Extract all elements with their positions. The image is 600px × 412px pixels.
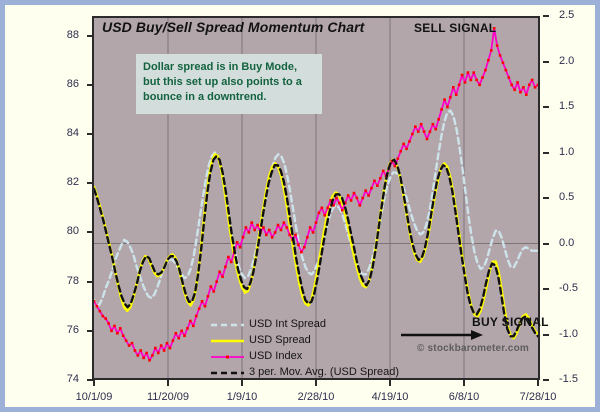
- series-marker: [499, 54, 502, 57]
- series-marker: [434, 128, 437, 131]
- series-marker: [341, 209, 344, 212]
- y-right-tick: [543, 334, 549, 336]
- series-marker: [350, 199, 353, 202]
- y-left-tick-label: 84: [33, 127, 79, 139]
- annotation-text: Dollar spread is in Buy Mode, but this s…: [143, 60, 315, 106]
- series-marker: [312, 231, 315, 234]
- series-marker: [487, 59, 490, 62]
- y-left-tick-label: 86: [33, 78, 79, 90]
- series-marker: [154, 347, 157, 350]
- series-marker: [402, 143, 405, 146]
- series-marker: [113, 325, 116, 328]
- y-right-tick-label: 2.5: [559, 9, 574, 21]
- series-marker: [253, 229, 256, 232]
- series-marker: [224, 266, 227, 269]
- y-right-tick-label: 0.0: [559, 237, 574, 249]
- series-marker: [274, 231, 277, 234]
- series-marker: [265, 234, 268, 237]
- series-marker: [484, 69, 487, 72]
- series-marker: [174, 332, 177, 335]
- series-marker: [414, 125, 417, 128]
- series-marker: [528, 84, 531, 87]
- y-right-tick-label: 1.5: [559, 100, 574, 112]
- series-marker: [96, 305, 99, 308]
- series-marker: [461, 74, 464, 77]
- y-right-tick: [543, 106, 549, 108]
- series-marker: [256, 224, 259, 227]
- series-marker: [195, 315, 198, 318]
- series-marker: [303, 246, 306, 249]
- y-right-tick: [543, 15, 549, 17]
- legend-swatch: [210, 350, 245, 362]
- series-marker: [297, 243, 300, 246]
- buy-signal-arrow-icon: [401, 329, 483, 341]
- series-marker: [437, 118, 440, 121]
- series-marker: [411, 133, 414, 136]
- y-right-tick-label: 2.0: [559, 55, 574, 67]
- series-marker: [139, 349, 142, 352]
- series-marker: [417, 130, 420, 133]
- y-axis-left: 7476788082848688: [5, 5, 92, 407]
- series-marker: [496, 44, 499, 47]
- y-left-tick-label: 82: [33, 176, 79, 188]
- series-marker: [347, 194, 350, 197]
- series-marker: [128, 344, 131, 347]
- series-marker: [134, 349, 137, 352]
- series-marker: [172, 339, 175, 342]
- x-tick: [463, 380, 465, 386]
- legend-label: 3 per. Mov. Avg. (USD Spread): [249, 366, 399, 378]
- series-marker: [475, 79, 478, 82]
- series-marker: [426, 138, 429, 141]
- series-marker: [271, 236, 274, 239]
- y-left-tick-label: 78: [33, 275, 79, 287]
- series-marker: [104, 317, 107, 320]
- series-marker: [359, 204, 362, 207]
- sell-signal-label: SELL SIGNAL: [414, 21, 496, 35]
- series-marker: [326, 207, 329, 210]
- series-marker: [519, 91, 522, 94]
- series-marker: [239, 246, 242, 249]
- y-right-tick-label: 0.5: [559, 191, 574, 203]
- series-marker: [300, 251, 303, 254]
- y-right-tick-label: -1.0: [559, 328, 578, 340]
- series-marker: [283, 221, 286, 224]
- y-right-tick: [543, 243, 549, 245]
- legend-item[interactable]: USD Spread: [210, 333, 399, 347]
- series-marker: [230, 261, 233, 264]
- series-marker: [215, 280, 218, 283]
- x-tick-label: 1/9/10: [227, 391, 258, 403]
- series-marker: [166, 342, 169, 345]
- legend-item[interactable]: USD Index: [210, 349, 399, 363]
- legend-swatch: [210, 318, 245, 330]
- series-marker: [204, 305, 207, 308]
- series-marker: [242, 236, 245, 239]
- series-marker: [294, 234, 297, 237]
- x-tick: [537, 380, 539, 386]
- series-marker: [356, 197, 359, 200]
- series-marker: [151, 354, 154, 357]
- chart-frame: 7476788082848688 -1.5-1.0-0.50.00.51.01.…: [0, 0, 600, 412]
- series-marker: [145, 352, 148, 355]
- series-marker: [163, 349, 166, 352]
- series-marker: [513, 88, 516, 91]
- series-marker: [452, 86, 455, 89]
- series-marker: [288, 234, 291, 237]
- series-marker: [186, 327, 189, 330]
- y-right-tick-label: 1.0: [559, 146, 574, 158]
- series-marker: [423, 130, 426, 133]
- y-right-tick: [543, 152, 549, 154]
- series-marker: [446, 106, 449, 109]
- series-marker: [262, 226, 265, 229]
- y-right-tick: [543, 288, 549, 290]
- legend-item[interactable]: USD Int Spread: [210, 317, 399, 331]
- series-marker: [367, 194, 370, 197]
- series-marker: [227, 256, 230, 259]
- series-marker: [245, 226, 248, 229]
- series-marker: [99, 310, 102, 313]
- series-marker: [107, 322, 110, 325]
- series-marker: [192, 325, 195, 328]
- series-marker: [467, 71, 470, 74]
- legend-swatch: [210, 366, 245, 378]
- series-marker: [122, 334, 125, 337]
- series-marker: [481, 76, 484, 79]
- series-marker: [458, 84, 461, 87]
- series-marker: [432, 123, 435, 126]
- series-marker: [169, 347, 172, 350]
- series-marker: [353, 192, 356, 195]
- series-marker: [248, 231, 251, 234]
- x-tick-label: 4/19/10: [372, 391, 409, 403]
- y-left-tick-label: 76: [33, 324, 79, 336]
- series-marker: [280, 229, 283, 232]
- series-marker: [364, 189, 367, 192]
- series-marker: [189, 320, 192, 323]
- legend-item[interactable]: 3 per. Mov. Avg. (USD Spread): [210, 365, 399, 379]
- y-right-tick-label: -0.5: [559, 282, 578, 294]
- series-marker: [250, 221, 253, 224]
- series-marker: [116, 332, 119, 335]
- series-marker: [376, 184, 379, 187]
- series-marker: [440, 108, 443, 111]
- series-marker: [125, 339, 128, 342]
- series-marker: [321, 207, 324, 210]
- series-marker: [502, 61, 505, 64]
- series-marker: [470, 79, 473, 82]
- series-marker: [537, 84, 538, 87]
- legend-label: USD Index: [249, 350, 302, 362]
- series-marker: [399, 150, 402, 153]
- x-tick-label: 7/28/10: [520, 391, 557, 403]
- x-tick-label: 10/1/09: [76, 391, 113, 403]
- series-marker: [160, 344, 163, 347]
- series-marker: [137, 354, 140, 357]
- series-marker: [268, 229, 271, 232]
- series-marker: [405, 148, 408, 151]
- series-marker: [318, 211, 321, 214]
- series-marker: [455, 93, 458, 96]
- series-marker: [510, 84, 513, 87]
- y-right-tick: [543, 61, 549, 63]
- series-marker: [373, 179, 376, 182]
- series-marker: [142, 357, 145, 360]
- series-marker: [315, 221, 318, 224]
- series-marker: [131, 342, 134, 345]
- series-marker: [309, 226, 312, 229]
- series-marker: [285, 226, 288, 229]
- series-marker: [429, 130, 432, 133]
- series-marker: [94, 300, 95, 303]
- y-left-tick-label: 80: [33, 225, 79, 237]
- annotation-box: Dollar spread is in Buy Mode, but this s…: [136, 54, 322, 114]
- series-marker: [218, 270, 221, 273]
- series-marker: [449, 96, 452, 99]
- x-tick-label: 2/28/10: [298, 391, 335, 403]
- series-marker: [525, 93, 528, 96]
- series-marker: [183, 334, 186, 337]
- x-tick: [93, 380, 95, 386]
- series-marker: [207, 295, 210, 298]
- series-marker: [472, 71, 475, 74]
- series-marker: [396, 157, 399, 160]
- series-marker: [157, 352, 160, 355]
- series-marker: [361, 197, 364, 200]
- series-marker: [443, 98, 446, 101]
- series-marker: [101, 315, 104, 318]
- series-marker: [370, 187, 373, 190]
- series-marker: [531, 79, 534, 82]
- x-tick-label: 6/8/10: [449, 391, 480, 403]
- series-marker: [338, 202, 341, 205]
- legend-swatch: [210, 334, 245, 346]
- chart-canvas: 7476788082848688 -1.5-1.0-0.50.00.51.01.…: [5, 5, 595, 407]
- x-tick-label: 11/20/09: [147, 391, 189, 403]
- series-marker: [177, 337, 180, 340]
- y-left-tick-label: 88: [33, 29, 79, 41]
- series-marker: [505, 69, 508, 72]
- series-marker: [382, 170, 385, 173]
- series-marker: [198, 307, 201, 310]
- series-marker: [490, 49, 493, 52]
- series-marker: [408, 140, 411, 143]
- legend-label: USD Int Spread: [249, 318, 326, 330]
- series-marker: [236, 241, 239, 244]
- series-marker: [323, 214, 326, 217]
- series-marker: [210, 285, 213, 288]
- series-marker: [110, 330, 113, 333]
- y-right-tick: [543, 197, 549, 199]
- page-title: USD Buy/Sell Spread Momentum Chart: [102, 19, 364, 35]
- series-marker: [379, 177, 382, 180]
- legend-label: USD Spread: [249, 334, 311, 346]
- series-marker: [212, 290, 215, 293]
- legend: USD Int SpreadUSD SpreadUSD Index3 per. …: [210, 317, 399, 381]
- series-marker: [507, 76, 510, 79]
- series-marker: [478, 84, 481, 87]
- series-marker: [148, 359, 151, 362]
- series-marker: [180, 330, 183, 333]
- x-tick: [167, 380, 169, 386]
- series-marker: [119, 327, 122, 330]
- series-marker: [522, 86, 525, 89]
- x-axis: 10/1/0911/20/091/9/102/28/104/19/106/8/1…: [5, 380, 595, 407]
- series-marker: [534, 86, 537, 89]
- series-marker: [201, 300, 204, 303]
- series-marker: [306, 236, 309, 239]
- series-marker: [516, 81, 519, 84]
- y-axis-right: -1.5-1.0-0.50.00.51.01.52.02.5: [540, 5, 595, 407]
- series-marker: [420, 123, 423, 126]
- buy-signal-label: BUY SIGNAL: [472, 315, 549, 329]
- series-marker: [464, 81, 467, 84]
- watermark: © stockbarometer.com: [417, 343, 529, 354]
- series-marker: [394, 165, 397, 168]
- series-marker: [221, 275, 224, 278]
- series-marker: [277, 224, 280, 227]
